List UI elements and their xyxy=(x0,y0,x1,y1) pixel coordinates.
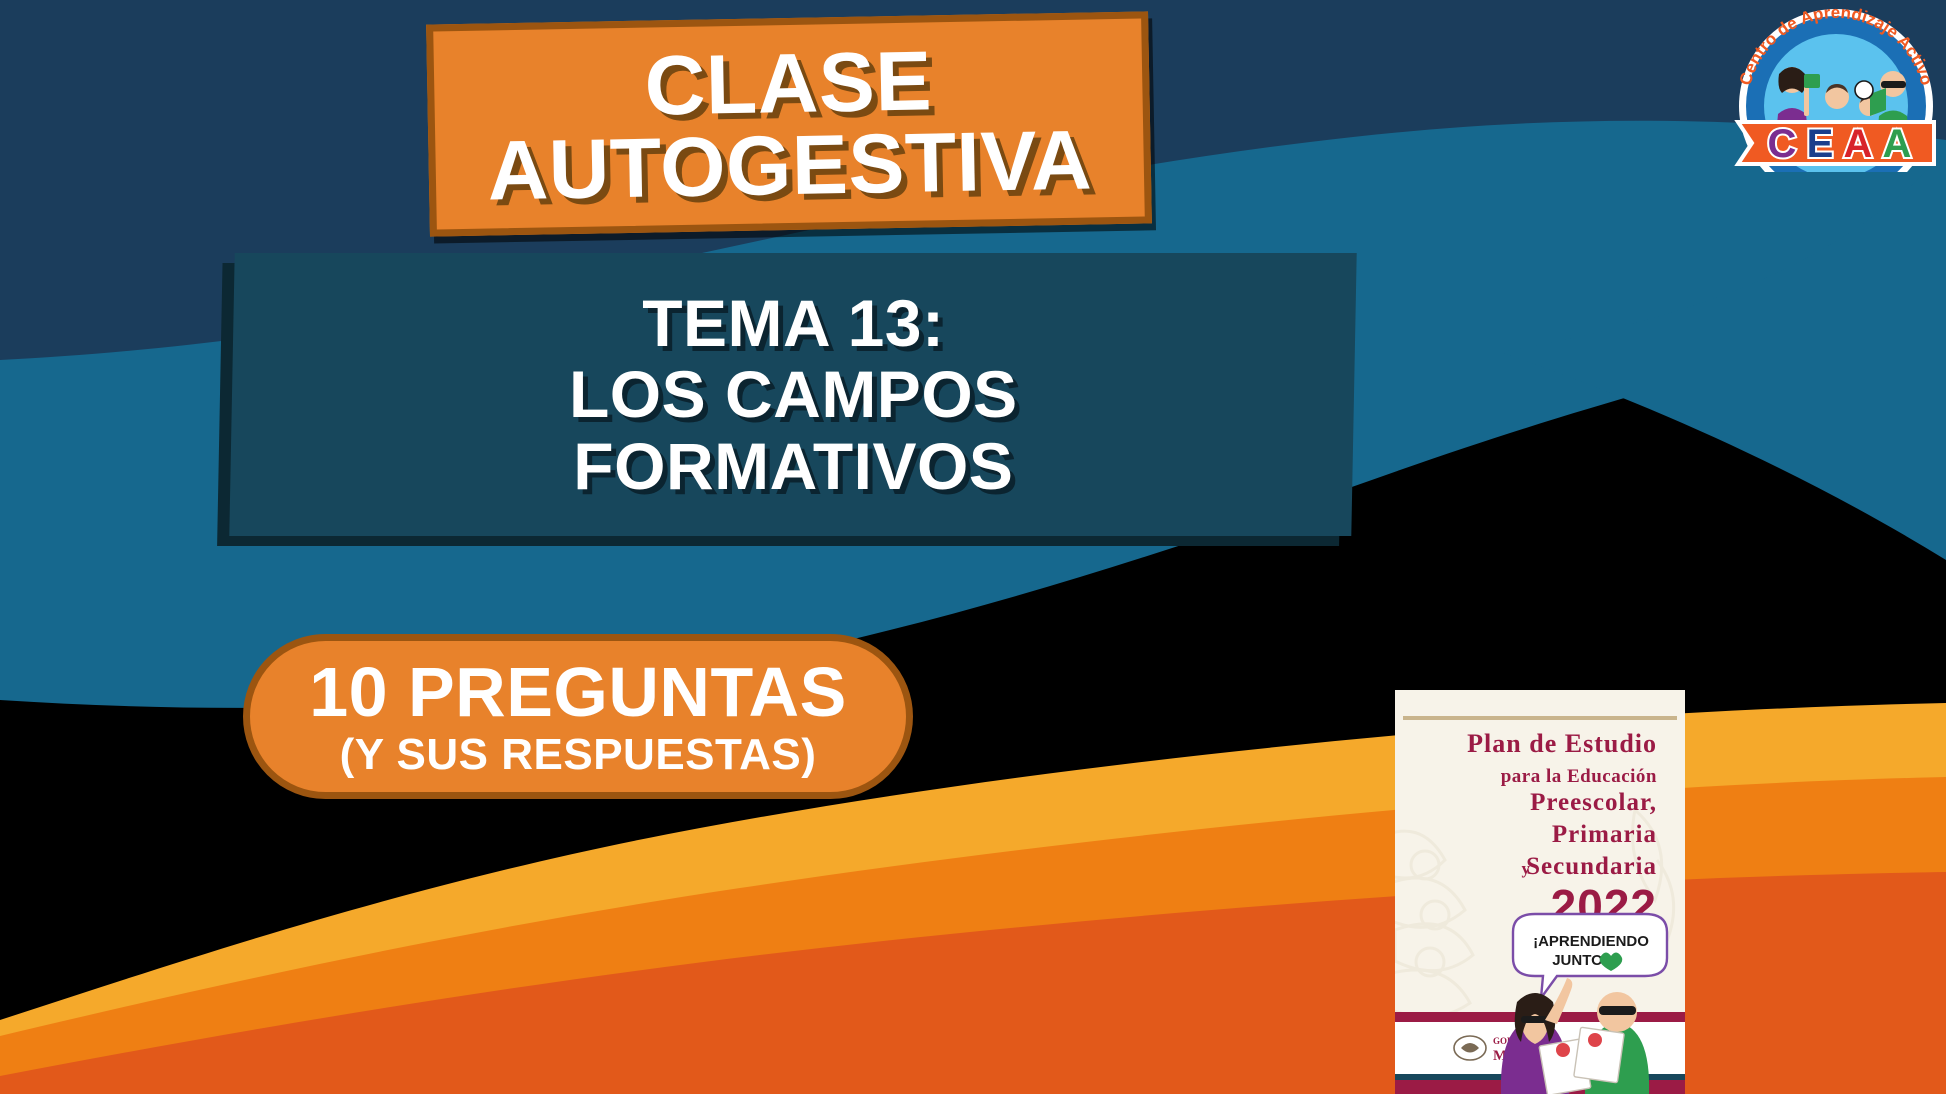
topic-line-1: TEMA 13: xyxy=(569,288,1018,359)
questions-count-label: 10 PREGUNTAS xyxy=(309,657,847,727)
topic-box: TEMA 13: LOS CAMPOS FORMATIVOS xyxy=(229,253,1356,536)
logo-letter-a1: A xyxy=(1844,122,1873,166)
book-level-preescolar: Preescolar, xyxy=(1530,789,1657,816)
logo-letter-e: E xyxy=(1807,122,1834,166)
book-subtitle: para la Educación xyxy=(1501,766,1657,787)
book-top-rule xyxy=(1403,716,1677,720)
banner-line-1: CLASE xyxy=(644,39,933,127)
class-type-banner: CLASE AUTOGESTIVA xyxy=(426,11,1152,236)
topic-line-3: FORMATIVOS xyxy=(569,430,1018,501)
book-level-secundaria: Secundaria xyxy=(1526,853,1657,880)
blue-wave-diagonal xyxy=(1500,150,1946,560)
questions-pill: 10 PREGUNTAS (Y SUS RESPUESTAS) xyxy=(243,634,913,799)
book-level-primaria: Primaria xyxy=(1552,821,1657,848)
logo-letter-a2: A xyxy=(1883,122,1912,166)
logo-letter-c: C xyxy=(1768,122,1797,166)
ceaa-logo-svg: Centro de Aprendizaje Activo xyxy=(1730,0,1942,172)
book-speech-line-1: ¡APRENDIENDO xyxy=(1533,933,1649,950)
book-cover: Plan de Estudio para la Educación Preesc… xyxy=(1395,690,1685,1094)
book-level-conjunction: y xyxy=(1522,859,1531,878)
book-title: Plan de Estudio xyxy=(1467,729,1657,758)
topic-box-inner: TEMA 13: LOS CAMPOS FORMATIVOS xyxy=(569,288,1018,502)
questions-answers-label: (Y SUS RESPUESTAS) xyxy=(340,733,817,777)
book-cover-svg: Plan de Estudio para la Educación Preesc… xyxy=(1395,690,1685,1094)
topic-line-2: LOS CAMPOS xyxy=(569,359,1018,430)
ceaa-logo: Centro de Aprendizaje Activo xyxy=(1730,0,1942,172)
banner-line-2: AUTOGESTIVA xyxy=(487,118,1093,211)
slide-canvas: Centro de Aprendizaje Activo xyxy=(0,0,1946,1094)
